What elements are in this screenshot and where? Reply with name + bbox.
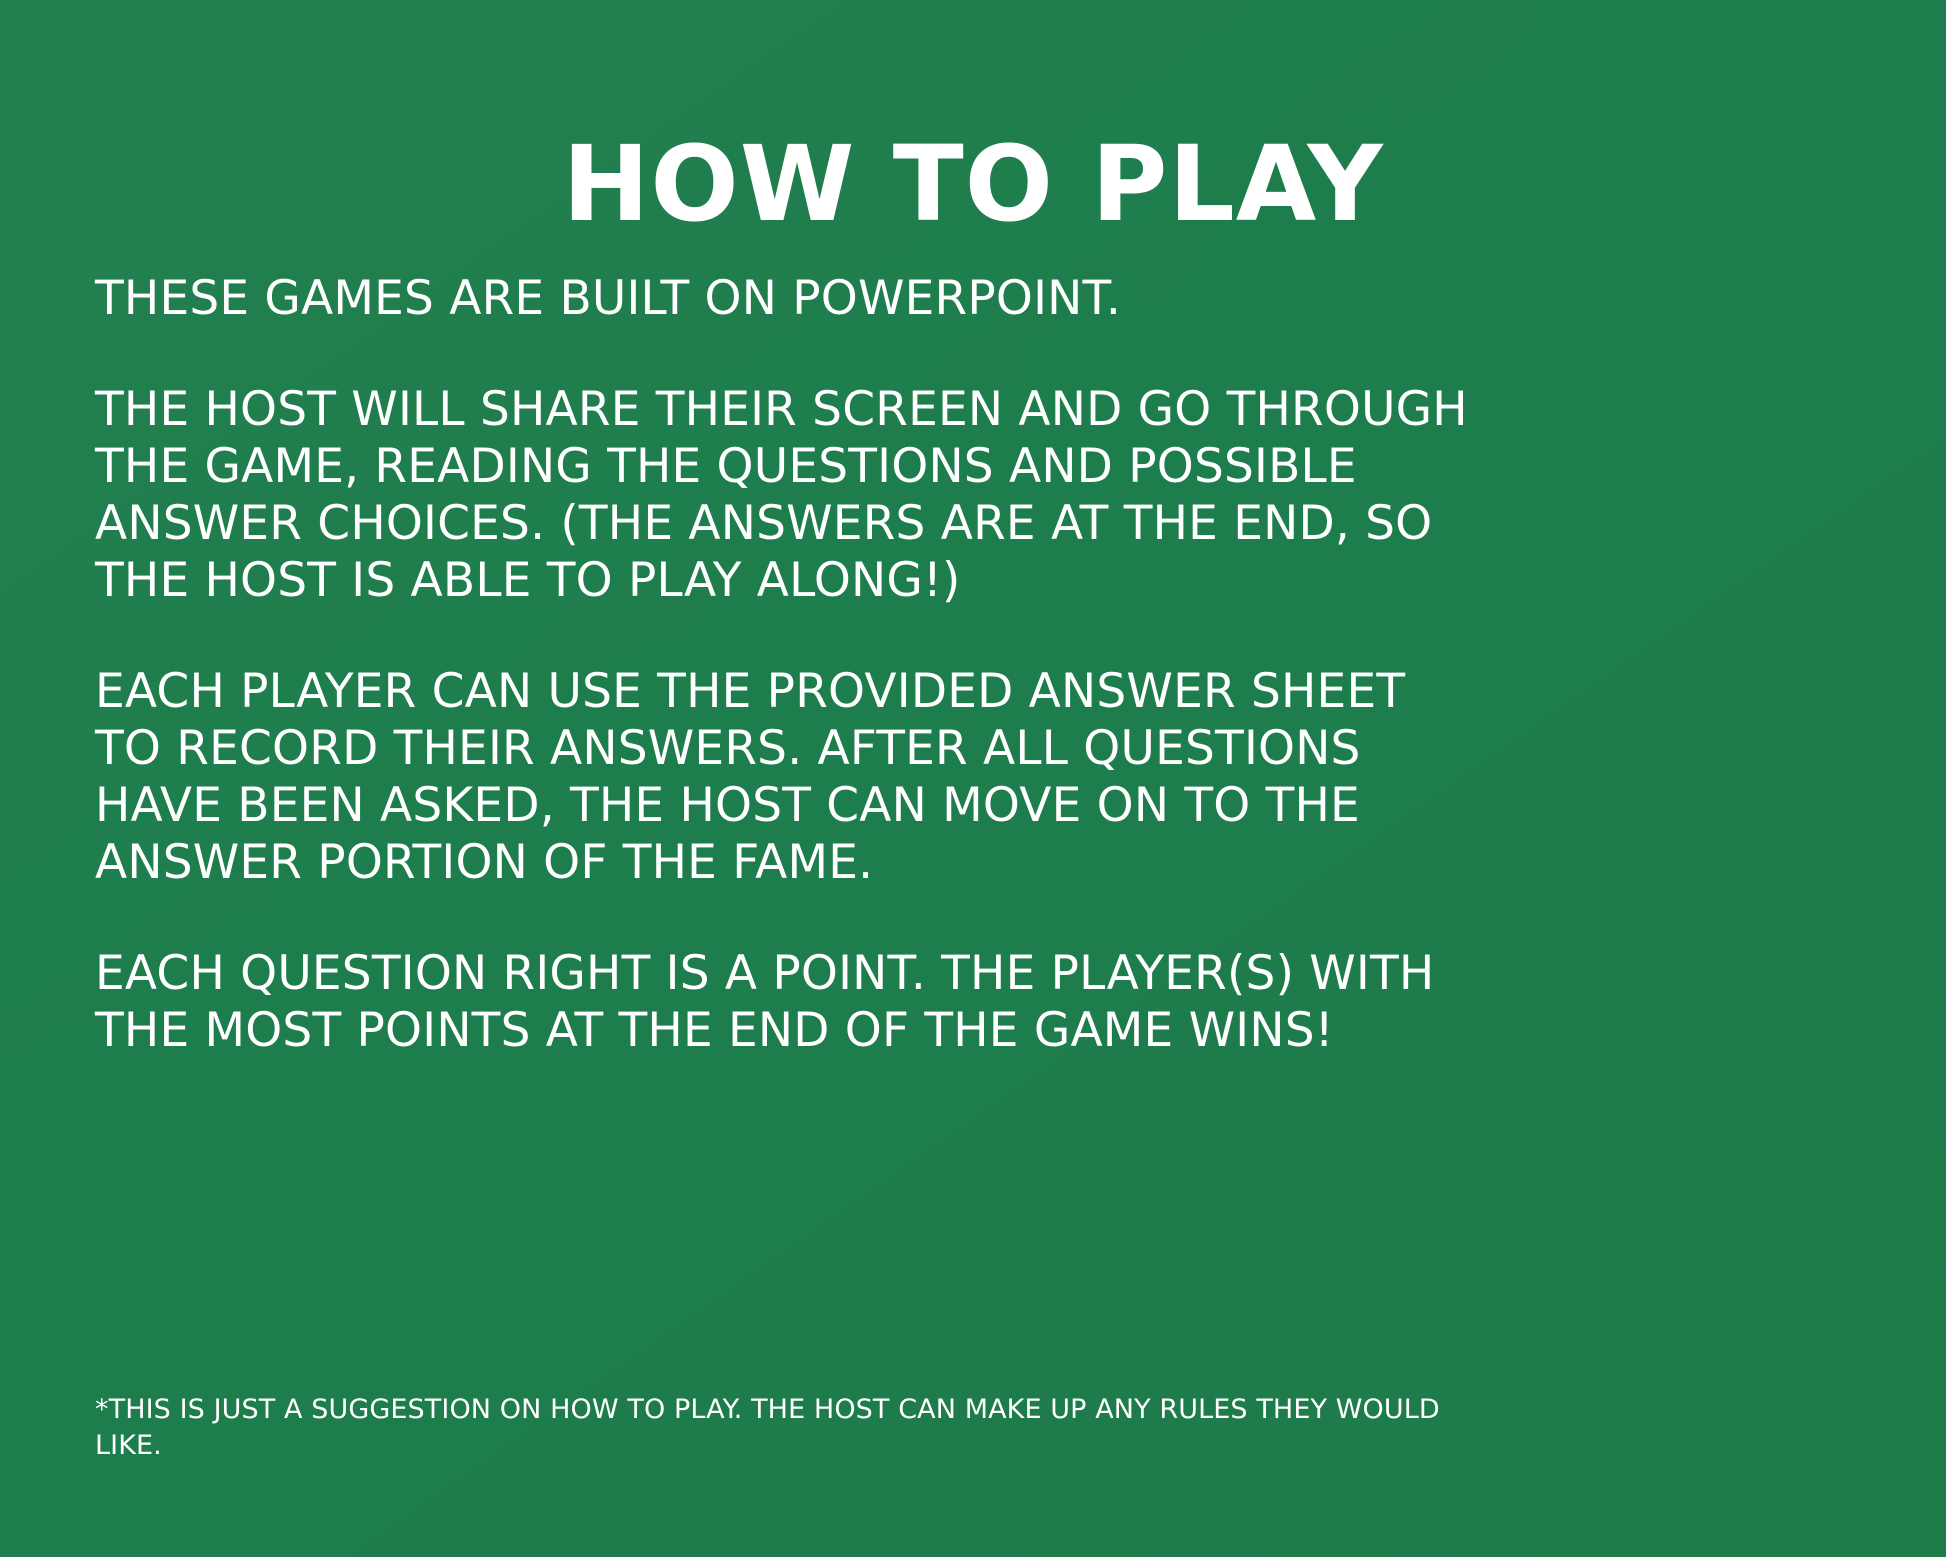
instruction-paragraph-3: EACH PLAYER CAN USE THE PROVIDED ANSWER … <box>95 663 1475 891</box>
instruction-paragraph-2: THE HOST WILL SHARE THEIR SCREEN AND GO … <box>95 381 1475 609</box>
instructions-body: THESE GAMES ARE BUILT ON POWERPOINT. THE… <box>95 270 1775 1059</box>
footnote-disclaimer: *THIS IS JUST A SUGGESTION ON HOW TO PLA… <box>95 1392 1495 1464</box>
page-title: HOW TO PLAY <box>0 128 1946 240</box>
how-to-play-slide: HOW TO PLAY THESE GAMES ARE BUILT ON POW… <box>0 0 1946 1557</box>
instruction-paragraph-4: EACH QUESTION RIGHT IS A POINT. THE PLAY… <box>95 945 1475 1059</box>
instruction-paragraph-1: THESE GAMES ARE BUILT ON POWERPOINT. <box>95 270 1475 327</box>
